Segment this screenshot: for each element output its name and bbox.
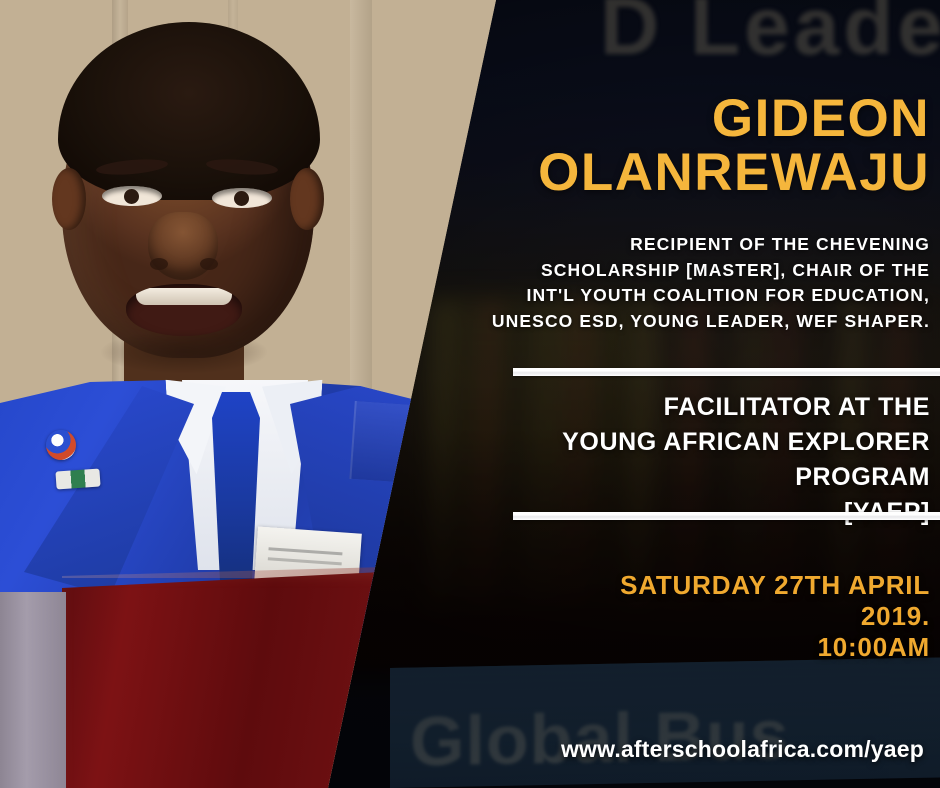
role-line-1: FACILITATOR AT THE	[450, 390, 930, 425]
lapel-pin-flag-icon	[55, 468, 100, 489]
event-date-line-1: SATURDAY 27TH APRIL	[460, 570, 930, 601]
speaker-nostril-right	[200, 258, 218, 270]
speaker-bio: RECIPIENT OF THE CHEVENING SCHOLARSHIP […	[452, 232, 930, 334]
speaker-name-line-2: OLANREWAJU	[460, 146, 930, 200]
event-date-line-2: 2019.	[460, 601, 930, 632]
speaker-ear-left	[52, 168, 86, 230]
speaker-eye-right	[212, 188, 272, 208]
speaker-name-line-1: GIDEON	[460, 92, 930, 146]
event-time: 10:00AM	[460, 632, 930, 663]
bio-line-1: RECIPIENT OF THE CHEVENING	[452, 232, 930, 258]
flyer-text-content: GIDEON OLANREWAJU RECIPIENT OF THE CHEVE…	[455, 0, 940, 788]
speaker-chin-shadow	[100, 330, 268, 374]
speaker-name: GIDEON OLANREWAJU	[460, 92, 930, 200]
website-url[interactable]: www.afterschoolafrica.com/yaep	[454, 736, 924, 763]
bio-line-4: UNESCO ESD, YOUNG LEADER, WEF SHAPER.	[452, 309, 930, 335]
bio-line-2: SCHOLARSHIP [MASTER], CHAIR OF THE	[452, 258, 930, 284]
speaker-ear-right	[290, 168, 324, 230]
speaker-eye-left	[102, 186, 162, 206]
event-flyer: D Leade Global Bus	[0, 0, 940, 788]
pupil	[124, 189, 139, 204]
divider-rule-bottom	[513, 512, 940, 520]
divider-rule-top	[513, 368, 940, 376]
pupil	[234, 191, 249, 206]
speaker-teeth	[136, 288, 232, 305]
bio-line-3: INT'L YOUTH COALITION FOR EDUCATION,	[452, 283, 930, 309]
lapel-pin-round-icon	[46, 430, 76, 460]
role-line-2: YOUNG AFRICAN EXPLORER PROGRAM	[450, 425, 930, 495]
speaker-role: FACILITATOR AT THE YOUNG AFRICAN EXPLORE…	[450, 390, 930, 530]
speaker-mouth	[126, 284, 242, 336]
speaker-nostril-left	[150, 258, 168, 270]
event-datetime: SATURDAY 27TH APRIL 2019. 10:00AM	[460, 570, 930, 663]
podium-side-panel	[0, 592, 66, 788]
